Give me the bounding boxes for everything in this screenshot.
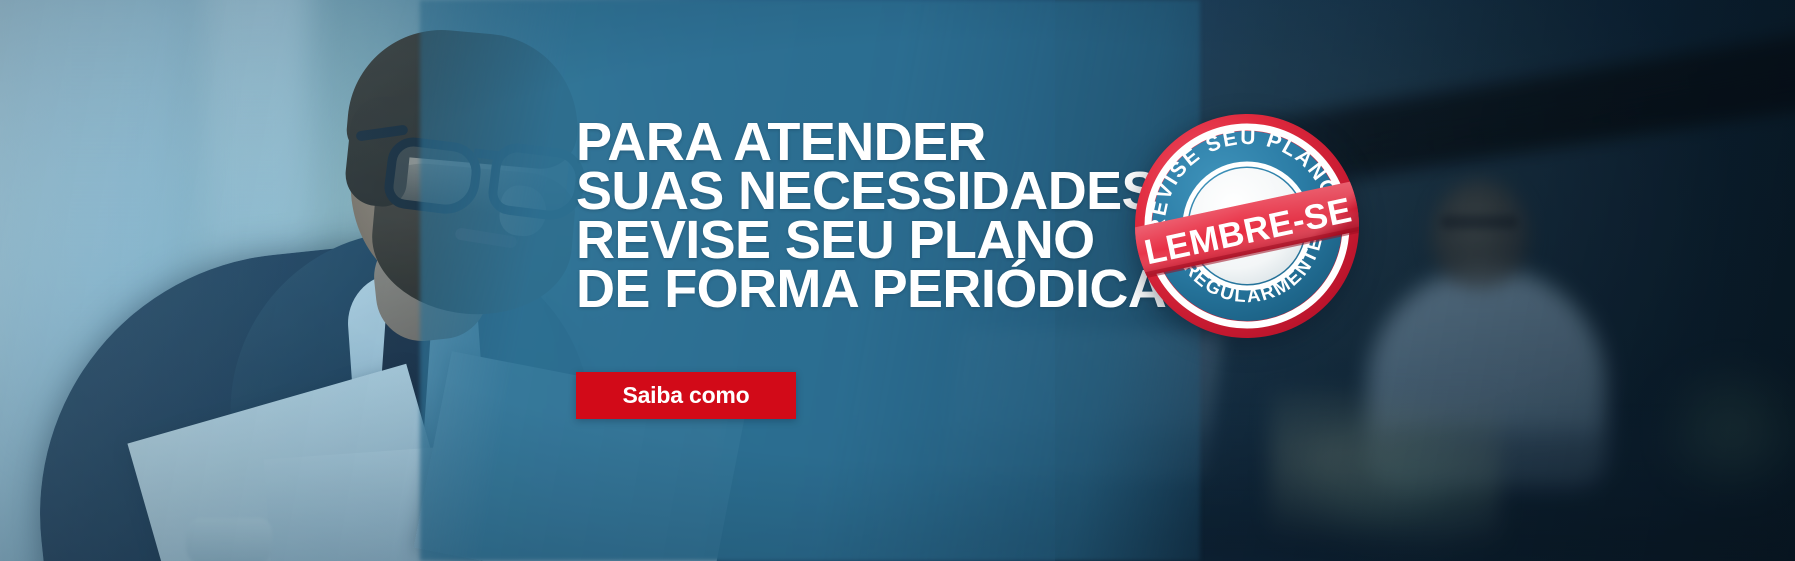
banner-content: PARA ATENDER SUAS NECESSIDADES, REVISE S… — [0, 0, 1795, 561]
headline: PARA ATENDER SUAS NECESSIDADES, REVISE S… — [576, 118, 1181, 314]
seal-rotated-group: REVISE SEU PLANO REGULARMENTE LEMBRE-SE — [1133, 112, 1361, 340]
headline-line-2: SUAS NECESSIDADES, — [576, 167, 1181, 216]
headline-line-4: DE FORMA PERIÓDICA. — [576, 265, 1181, 314]
promo-banner: PARA ATENDER SUAS NECESSIDADES, REVISE S… — [0, 0, 1795, 561]
headline-line-3: REVISE SEU PLANO — [576, 216, 1181, 265]
saiba-como-button[interactable]: Saiba como — [576, 372, 796, 419]
lembre-se-seal-badge: REVISE SEU PLANO REGULARMENTE LEMBRE-SE — [1133, 112, 1361, 340]
headline-line-1: PARA ATENDER — [576, 118, 1181, 167]
